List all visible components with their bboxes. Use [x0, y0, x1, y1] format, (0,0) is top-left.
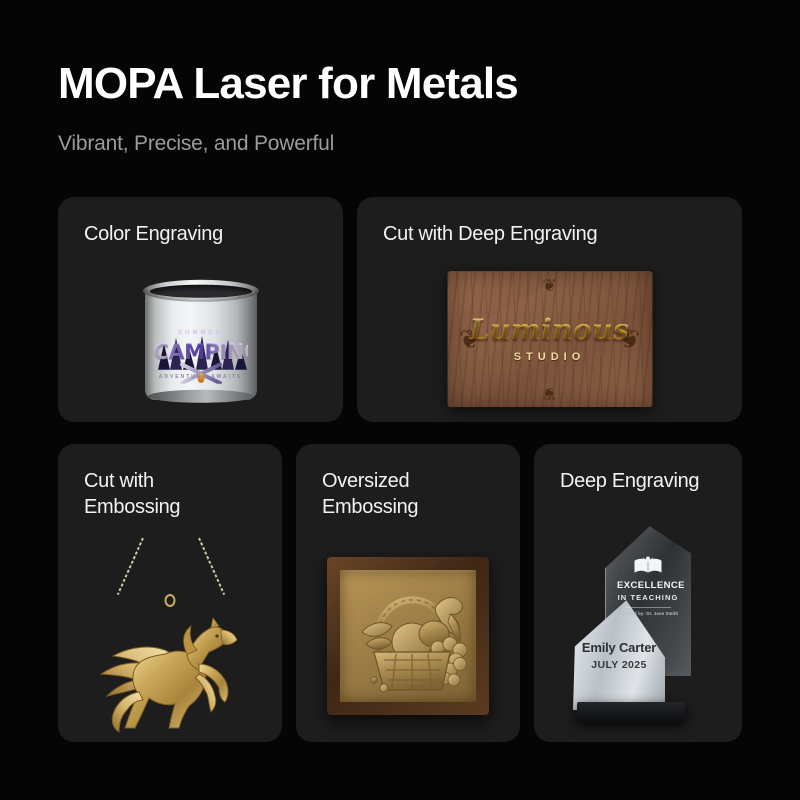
card-artwork-pegasus-pendant: [58, 521, 282, 742]
award-base: [577, 702, 685, 722]
card-title: Cut with Deep Engraving: [357, 197, 742, 247]
card-title: Color Engraving: [58, 197, 343, 247]
award-engraving-block: EXCELLENCE IN TEACHING Awarded by: Dr. J…: [617, 556, 679, 616]
card-cut-with-deep-engraving[interactable]: Cut with Deep Engraving ❦ ❦ ❦ ❦ Luminous…: [357, 197, 742, 422]
mug-top-text: SUMMER: [154, 329, 248, 335]
card-row-bottom: Cut with Embossing: [58, 444, 742, 742]
award-presented-by: Awarded by: Dr. Jane Smith: [617, 611, 679, 616]
open-book-icon: [633, 556, 663, 576]
award-title-line1: EXCELLENCE: [617, 580, 679, 591]
embossed-fruit-basket-panel: [327, 557, 489, 715]
card-oversized-embossing[interactable]: Oversized Embossing: [296, 444, 520, 742]
card-artwork-color-engraving: SUMMER CAMPING ADVENTURE AWAITS: [58, 247, 343, 422]
award-title-line2: IN TEACHING: [617, 593, 679, 602]
promo-page: MOPA Laser for Metals Vibrant, Precise, …: [0, 0, 800, 800]
mug-main-text: CAMPING: [154, 339, 248, 363]
card-title: Oversized Embossing: [296, 444, 520, 521]
card-title: Cut with Embossing: [58, 444, 282, 521]
card-color-engraving[interactable]: Color Engraving SUM: [58, 197, 343, 422]
mug-artwork: SUMMER CAMPING ADVENTURE AWAITS: [154, 309, 248, 383]
divider: [625, 607, 671, 608]
plaque-surface: ❦ ❦ ❦ ❦ Luminous STUDIO: [447, 271, 652, 407]
page-subtitle: Vibrant, Precise, and Powerful: [58, 132, 742, 156]
relief-surface: [340, 570, 476, 702]
mug-rim: [143, 279, 259, 301]
pendant-bail: [165, 594, 176, 607]
card-artwork-crystal-award: EXCELLENCE IN TEACHING Awarded by: Dr. J…: [534, 494, 742, 742]
flourish-icon: ❦: [542, 277, 556, 294]
fruit-basket-icon: [340, 570, 476, 702]
award-date: JULY 2025: [577, 659, 661, 671]
flourish-icon: ❦: [542, 385, 556, 402]
pegasus-figure: [95, 608, 245, 733]
card-deep-engraving[interactable]: Deep Engraving EXCELLENCE IN: [534, 444, 742, 742]
card-row-top: Color Engraving SUM: [58, 197, 742, 422]
crystal-excellence-award: EXCELLENCE IN TEACHING Awarded by: Dr. J…: [563, 522, 713, 722]
card-cut-with-embossing[interactable]: Cut with Embossing: [58, 444, 282, 742]
mug-bottom-edge: [148, 389, 254, 402]
plaque-sub-text: STUDIO: [447, 351, 652, 363]
gold-pegasus-pendant: [85, 536, 255, 736]
award-recipient: Emily Carter: [577, 640, 661, 655]
pegasus-icon: [95, 608, 245, 733]
stainless-camping-mug: SUMMER CAMPING ADVENTURE AWAITS: [145, 279, 257, 399]
mug-bottom-text: ADVENTURE AWAITS: [154, 373, 248, 379]
page-title: MOPA Laser for Metals: [58, 62, 742, 106]
walnut-wood-plaque: ❦ ❦ ❦ ❦ Luminous STUDIO: [447, 271, 652, 407]
card-artwork-fruit-basket-relief: [296, 521, 520, 742]
card-artwork-wood-plaque: ❦ ❦ ❦ ❦ Luminous STUDIO: [357, 247, 742, 422]
card-title: Deep Engraving: [534, 444, 742, 494]
plaque-script-text: Luminous: [447, 313, 652, 346]
